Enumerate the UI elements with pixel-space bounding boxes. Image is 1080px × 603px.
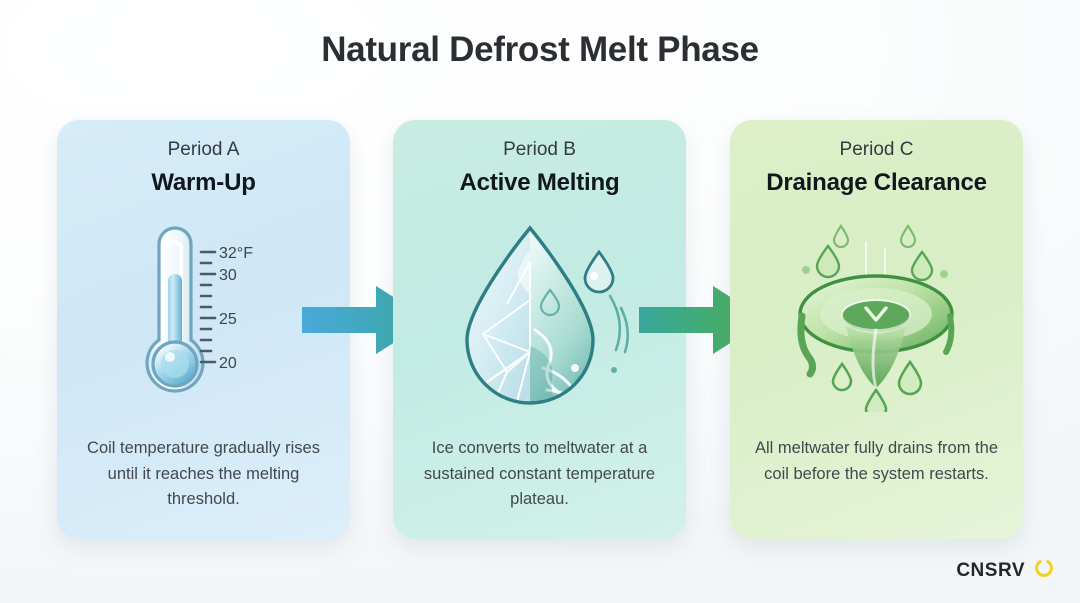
drain-funnel-icon <box>730 222 1023 412</box>
card-period-label: Period B <box>393 139 686 161</box>
brand-name: CNSRV <box>956 560 1025 582</box>
scale-label-20: 20 <box>219 355 237 372</box>
scale-label-32f: 32°F <box>219 245 253 262</box>
page-title: Natural Defrost Melt Phase <box>0 30 1080 70</box>
card-period-label: Period A <box>57 139 350 161</box>
card-phase-title: Drainage Clearance <box>730 169 1023 197</box>
card-description: Ice converts to meltwater at a sustained… <box>411 436 668 513</box>
card-description: Coil temperature gradually rises until i… <box>75 436 332 513</box>
brand-logo: CNSRV <box>956 558 1054 583</box>
card-period-label: Period C <box>730 139 1023 161</box>
brand-ring-icon <box>1034 558 1054 583</box>
scale-label-30: 30 <box>219 267 237 284</box>
card-description: All meltwater fully drains from the coil… <box>748 436 1005 487</box>
scale-label-25: 25 <box>219 311 237 328</box>
card-phase-title: Warm-Up <box>57 169 350 197</box>
card-phase-title: Active Melting <box>393 169 686 197</box>
phase-card-drainage-clearance: Period C Drainage Clearance <box>730 120 1023 539</box>
infographic-canvas: Natural Defrost Melt Phase Period A Warm… <box>0 0 1080 603</box>
